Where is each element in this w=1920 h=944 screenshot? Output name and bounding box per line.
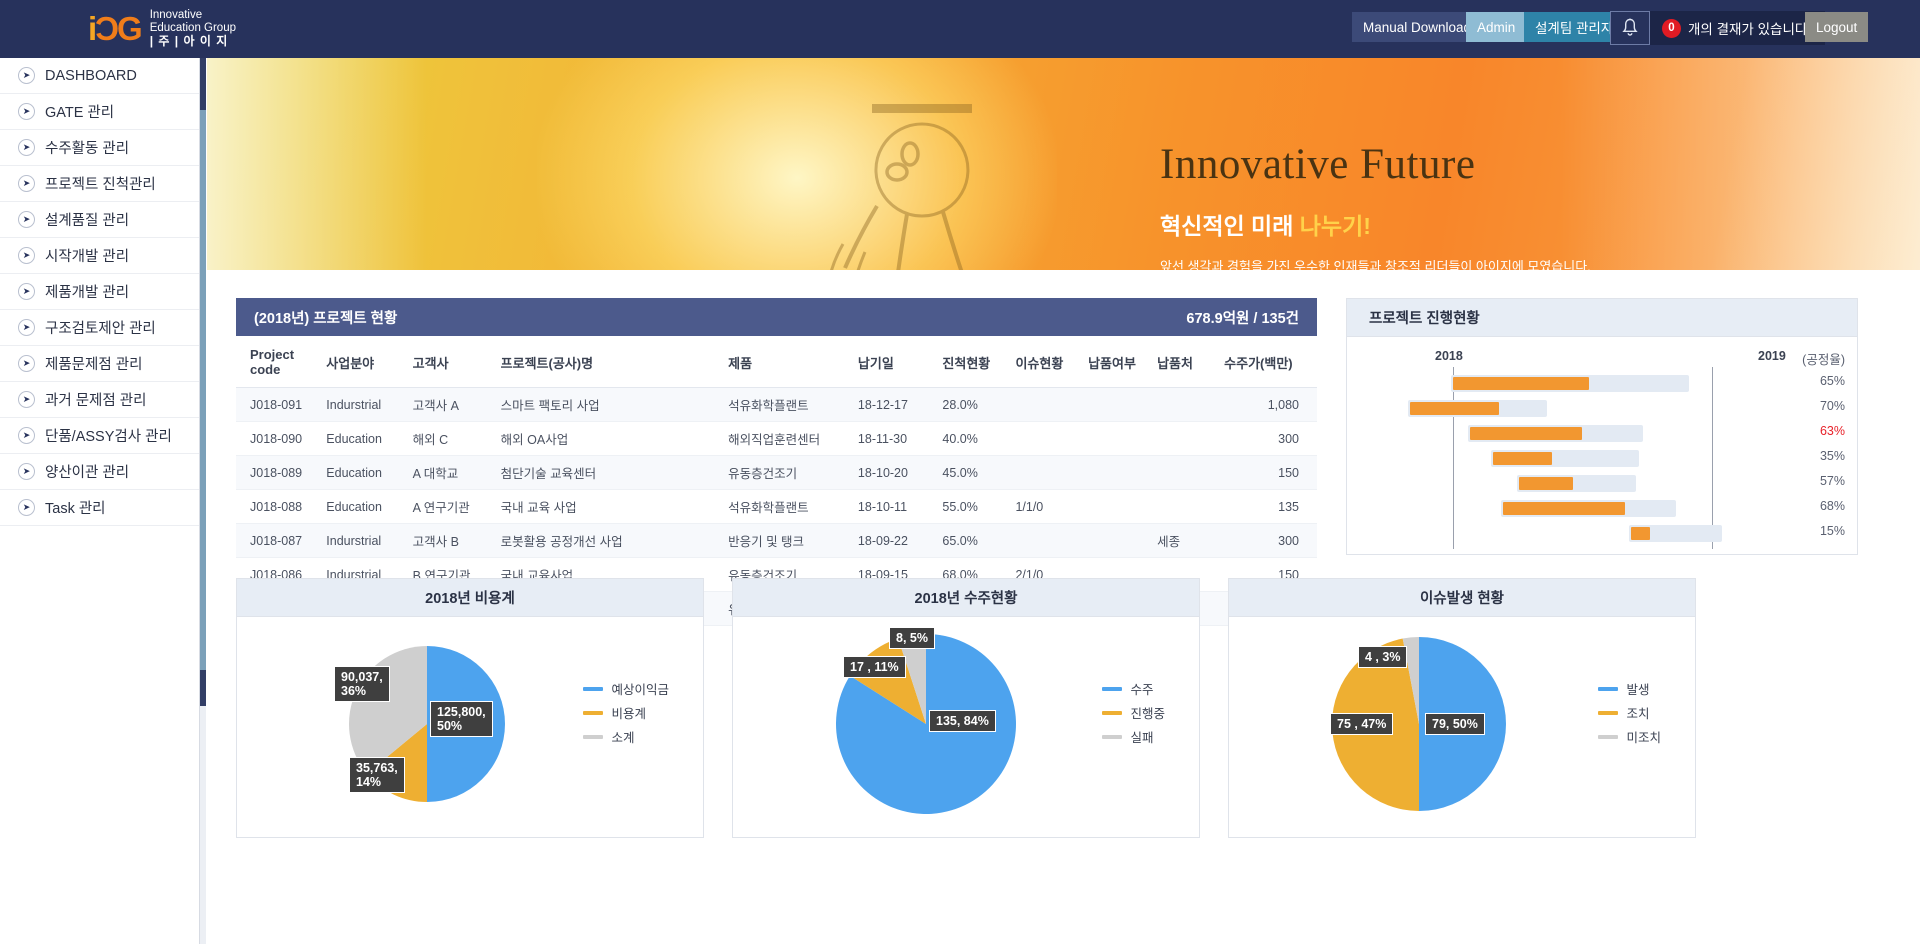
logout-button[interactable]: Logout	[1805, 12, 1868, 42]
admin-button[interactable]: Admin	[1466, 12, 1526, 42]
legend-label: 예상이익금	[611, 679, 669, 698]
cell-progress: 65.0%	[942, 524, 1015, 558]
cell-product: 석유화학플랜트	[728, 388, 858, 422]
gantt-chart: 2018 2019 (공정율) 65%70%63%35%57%68%15%	[1347, 337, 1857, 555]
cell-amount: 300	[1224, 524, 1317, 558]
project-progress-panel: 프로젝트 진행현황 2018 2019 (공정율) 65%70%63%35%57…	[1346, 298, 1858, 555]
legend-item[interactable]: 조치	[1598, 703, 1661, 722]
column-header-7: 이슈현황	[1015, 336, 1088, 388]
table-row[interactable]: J018-090Education해외 C해외 OA사업해외직업훈련센터18-1…	[236, 422, 1317, 456]
gantt-axis-label-left: 2018	[1435, 349, 1463, 363]
cell-due: 18-09-22	[858, 524, 943, 558]
cell-amount: 1,080	[1224, 388, 1317, 422]
cell-progress: 28.0%	[942, 388, 1015, 422]
gantt-fill	[1519, 477, 1572, 490]
approval-notice-text: 개의 결재가 있습니다.	[1688, 18, 1811, 38]
banner-subheading-plain: 혁신적인 미래	[1160, 213, 1300, 239]
banner-subheading: 혁신적인 미래 나누기!	[1160, 207, 1591, 241]
bell-icon	[1621, 18, 1639, 38]
legend-label: 조치	[1626, 703, 1649, 722]
issue-pie-title: 이슈발생 현황	[1229, 579, 1695, 617]
chevron-right-icon: ➤	[18, 319, 35, 336]
column-header-1: 사업분야	[326, 336, 412, 388]
cell-delivered	[1088, 490, 1157, 524]
logo-text: Innovative Education Group | 주 | 아 이 지	[150, 9, 236, 48]
cell-client: A 대학교	[413, 456, 501, 490]
legend-swatch	[1102, 711, 1122, 715]
chevron-right-icon: ➤	[18, 355, 35, 372]
sidebar-item-1[interactable]: ➤GATE 관리	[0, 94, 199, 130]
table-row[interactable]: J018-087Indurstrial고객사 B로봇활용 공정개선 사업반응기 …	[236, 524, 1317, 558]
cell-delivered	[1088, 524, 1157, 558]
cell-product: 반응기 및 탱크	[728, 524, 858, 558]
approval-count-badge: 0	[1662, 19, 1681, 38]
order-pie-panel: 2018년 수주현황 수주진행중실패135, 84%17 , 11%8, 5%	[732, 578, 1200, 838]
legend-item[interactable]: 소계	[583, 727, 669, 746]
gantt-percent-label: 70%	[1820, 399, 1845, 413]
project-progress-header: 프로젝트 진행현황	[1347, 299, 1857, 337]
sidebar-item-10[interactable]: ➤단품/ASSY검사 관리	[0, 418, 199, 454]
table-row[interactable]: J018-088EducationA 연구기관국내 교육 사업석유화학플랜트18…	[236, 490, 1317, 524]
logo-line-3: | 주 | 아 이 지	[150, 35, 236, 48]
cell-amount: 150	[1224, 456, 1317, 490]
cell-client: 고객사 A	[413, 388, 501, 422]
manual-download-button[interactable]: Manual Download	[1352, 12, 1482, 42]
legend-item[interactable]: 수주	[1102, 679, 1165, 698]
cell-due: 18-10-11	[858, 490, 943, 524]
sidebar-item-2[interactable]: ➤수주활동 관리	[0, 130, 199, 166]
project-table-header-row: Project code사업분야고객사프로젝트(공사)명제품납기일진척현황이슈현…	[236, 336, 1317, 388]
gantt-axis-unit-label: (공정율)	[1802, 349, 1845, 368]
gantt-fill	[1503, 502, 1625, 515]
project-status-title: (2018년) 프로젝트 현황	[254, 307, 397, 328]
cell-delivered	[1088, 388, 1157, 422]
cell-code: J018-088	[236, 490, 326, 524]
cell-delivered	[1088, 456, 1157, 490]
sidebar-scrollbar-thumb[interactable]	[200, 110, 206, 670]
cell-name: 로봇활용 공정개선 사업	[501, 524, 728, 558]
gantt-row: 57%	[1347, 471, 1859, 496]
cell-field: Education	[326, 490, 412, 524]
gantt-row: 15%	[1347, 521, 1859, 546]
gantt-row: 68%	[1347, 496, 1859, 521]
gantt-percent-label: 15%	[1820, 524, 1845, 538]
chevron-right-icon: ➤	[18, 247, 35, 264]
pie-data-label: 35,763, 14%	[349, 757, 405, 793]
column-header-4: 제품	[728, 336, 858, 388]
sidebar-item-3[interactable]: ➤프로젝트 진척관리	[0, 166, 199, 202]
cell-product: 해외직업훈련센터	[728, 422, 858, 456]
legend-label: 발생	[1626, 679, 1649, 698]
cell-dest	[1157, 388, 1224, 422]
legend-item[interactable]: 미조치	[1598, 727, 1661, 746]
banner-subheading-accent: 나누기!	[1300, 213, 1371, 239]
gantt-row: 70%	[1347, 396, 1859, 421]
project-status-panel: (2018년) 프로젝트 현황 678.9억원 / 135건 Project c…	[236, 298, 1317, 555]
legend-label: 비용계	[611, 703, 646, 722]
pie-data-label: 125,800, 50%	[430, 701, 493, 737]
legend-swatch	[583, 687, 603, 691]
chevron-right-icon: ➤	[18, 427, 35, 444]
cell-dest	[1157, 422, 1224, 456]
sidebar-scrollbar-bottom-cap[interactable]	[200, 670, 206, 706]
gantt-percent-label: 65%	[1820, 374, 1845, 388]
pie-data-label: 75 , 47%	[1330, 713, 1393, 735]
cell-dest: 세종	[1157, 524, 1224, 558]
gantt-fill	[1410, 402, 1499, 415]
approval-notice[interactable]: 0 개의 결재가 있습니다.	[1650, 11, 1825, 45]
sidebar-item-label: Task 관리	[45, 497, 106, 518]
banner-heading: Innovative Future	[1160, 143, 1591, 186]
cell-issue	[1015, 388, 1088, 422]
cell-dest	[1157, 490, 1224, 524]
gantt-percent-label: 57%	[1820, 474, 1845, 488]
sidebar-item-7[interactable]: ➤구조검토제안 관리	[0, 310, 199, 346]
cell-due: 18-10-20	[858, 456, 943, 490]
order-pie-title: 2018년 수주현황	[733, 579, 1199, 617]
cell-product: 석유화학플랜트	[728, 490, 858, 524]
cell-progress: 55.0%	[942, 490, 1015, 524]
project-status-summary: 678.9억원 / 135건	[1186, 307, 1299, 328]
gantt-percent-label: 35%	[1820, 449, 1845, 463]
cell-issue	[1015, 524, 1088, 558]
legend-swatch	[1102, 687, 1122, 691]
cell-progress: 40.0%	[942, 422, 1015, 456]
table-row[interactable]: J018-089EducationA 대학교첨단기술 교육센터유동층건조기18-…	[236, 456, 1317, 490]
banner-paragraph-1: 앞선 생각과 경험을 가진 우수한 인재들과 창조적 리더들이 아이지에 모였습…	[1160, 257, 1591, 270]
cell-name: 해외 OA사업	[501, 422, 728, 456]
pie-legend: 수주진행중실패	[1102, 679, 1165, 751]
sidebar-item-12[interactable]: ➤Task 관리	[0, 490, 199, 526]
legend-swatch	[1598, 687, 1618, 691]
sidebar-item-label: 제품문제점 관리	[45, 353, 142, 374]
legend-label: 진행중	[1130, 703, 1165, 722]
app-header: iƆG Innovative Education Group | 주 | 아 이…	[0, 0, 1920, 58]
legend-item[interactable]: 발생	[1598, 679, 1661, 698]
cell-issue: 1/1/0	[1015, 490, 1088, 524]
cell-due: 18-11-30	[858, 422, 943, 456]
sidebar-item-label: 제품개발 관리	[45, 281, 129, 302]
legend-swatch	[583, 711, 603, 715]
cell-progress: 45.0%	[942, 456, 1015, 490]
cell-field: Indurstrial	[326, 524, 412, 558]
legend-label: 수주	[1130, 679, 1153, 698]
gantt-percent-label: 68%	[1820, 499, 1845, 513]
column-header-5: 납기일	[858, 336, 943, 388]
cell-field: Indurstrial	[326, 388, 412, 422]
cell-name: 국내 교육 사업	[501, 490, 728, 524]
column-header-10: 수주가(백만)	[1224, 336, 1317, 388]
chevron-right-icon: ➤	[18, 283, 35, 300]
gantt-percent-label: 63%	[1820, 424, 1845, 438]
legend-swatch	[583, 735, 603, 739]
pie-data-label: 79, 50%	[1425, 713, 1485, 735]
chevron-right-icon: ➤	[18, 463, 35, 480]
project-progress-title: 프로젝트 진행현황	[1369, 307, 1480, 328]
cell-amount: 135	[1224, 490, 1317, 524]
sidebar-item-9[interactable]: ➤과거 문제점 관리	[0, 382, 199, 418]
column-header-9: 납품처	[1157, 336, 1224, 388]
cell-client: A 연구기관	[413, 490, 501, 524]
cell-due: 18-12-17	[858, 388, 943, 422]
legend-item[interactable]: 진행중	[1102, 703, 1165, 722]
sidebar-item-0[interactable]: ➤DASHBOARD	[0, 58, 199, 94]
cost-pie-body: 예상이익금비용계소계125,800, 50%35,763, 14%90,037,…	[237, 617, 703, 838]
sidebar-item-label: 양산이관 관리	[45, 461, 129, 482]
legend-swatch	[1598, 711, 1618, 715]
cell-name: 첨단기술 교육센터	[501, 456, 728, 490]
column-header-6: 진척현황	[942, 336, 1015, 388]
chevron-right-icon: ➤	[18, 175, 35, 192]
cell-code: J018-090	[236, 422, 326, 456]
gantt-row: 35%	[1347, 446, 1859, 471]
gantt-axis-label-right: 2019	[1758, 349, 1786, 363]
project-status-header: (2018년) 프로젝트 현황 678.9억원 / 135건	[236, 298, 1317, 336]
cell-product: 유동층건조기	[728, 456, 858, 490]
column-header-2: 고객사	[413, 336, 501, 388]
sidebar-item-4[interactable]: ➤설계품질 관리	[0, 202, 199, 238]
gantt-fill	[1631, 527, 1649, 540]
sidebar-item-8[interactable]: ➤제품문제점 관리	[0, 346, 199, 382]
cell-client: 해외 C	[413, 422, 501, 456]
lightbulb-illustration	[747, 66, 1167, 270]
sidebar-item-label: 구조검토제안 관리	[45, 317, 156, 338]
cell-field: Education	[326, 456, 412, 490]
hero-banner: Innovative Future 혁신적인 미래 나누기! 앞선 생각과 경험…	[207, 58, 1920, 270]
gantt-fill	[1470, 427, 1582, 440]
table-row[interactable]: J018-091Indurstrial고객사 A스마트 팩토리 사업석유화학플랜…	[236, 388, 1317, 422]
cell-code: J018-089	[236, 456, 326, 490]
cell-issue	[1015, 422, 1088, 456]
legend-item[interactable]: 비용계	[583, 703, 669, 722]
cell-delivered	[1088, 422, 1157, 456]
cost-pie-panel: 2018년 비용계 예상이익금비용계소계125,800, 50%35,763, …	[236, 578, 704, 838]
sidebar-item-label: 단품/ASSY검사 관리	[45, 425, 172, 446]
cell-amount: 300	[1224, 422, 1317, 456]
issue-pie-body: 발생조치미조치79, 50%75 , 47%4 , 3%	[1229, 617, 1695, 838]
cell-client: 고객사 B	[413, 524, 501, 558]
cell-field: Education	[326, 422, 412, 456]
sidebar-item-label: GATE 관리	[45, 101, 114, 122]
pie-data-label: 8, 5%	[889, 627, 935, 649]
gantt-row: 63%	[1347, 421, 1859, 446]
cell-dest	[1157, 456, 1224, 490]
sidebar-item-label: 과거 문제점 관리	[45, 389, 146, 410]
column-header-8: 납품여부	[1088, 336, 1157, 388]
pie-data-label: 90,037, 36%	[334, 666, 390, 702]
chevron-right-icon: ➤	[18, 211, 35, 228]
issue-pie-panel: 이슈발생 현황 발생조치미조치79, 50%75 , 47%4 , 3%	[1228, 578, 1696, 838]
chevron-right-icon: ➤	[18, 103, 35, 120]
pie-data-label: 135, 84%	[929, 710, 996, 732]
sidebar-item-label: 프로젝트 진척관리	[45, 173, 156, 194]
banner-left-fade	[207, 58, 427, 270]
sidebar-item-label: DASHBOARD	[45, 68, 137, 84]
gantt-row: 65%	[1347, 371, 1859, 396]
sidebar-item-label: 설계품질 관리	[45, 209, 129, 230]
pie-data-label: 4 , 3%	[1358, 646, 1407, 668]
sidebar-item-label: 수주활동 관리	[45, 137, 129, 158]
legend-label: 소계	[611, 727, 634, 746]
column-header-3: 프로젝트(공사)명	[501, 336, 728, 388]
pie-data-label: 17 , 11%	[843, 656, 906, 678]
cell-code: J018-087	[236, 524, 326, 558]
chevron-right-icon: ➤	[18, 139, 35, 156]
legend-swatch	[1102, 735, 1122, 739]
sidebar-item-6[interactable]: ➤제품개발 관리	[0, 274, 199, 310]
sidebar-nav: ➤DASHBOARD➤GATE 관리➤수주활동 관리➤프로젝트 진척관리➤설계품…	[0, 58, 200, 944]
cost-pie-title: 2018년 비용계	[237, 579, 703, 617]
sidebar-scrollbar-top-cap[interactable]	[200, 58, 206, 110]
pie-legend: 예상이익금비용계소계	[583, 679, 669, 751]
cell-code: J018-091	[236, 388, 326, 422]
cell-name: 스마트 팩토리 사업	[501, 388, 728, 422]
sidebar-item-label: 시작개발 관리	[45, 245, 129, 266]
legend-label: 미조치	[1626, 727, 1661, 746]
order-pie-body: 수주진행중실패135, 84%17 , 11%8, 5%	[733, 617, 1199, 838]
sidebar-item-11[interactable]: ➤양산이관 관리	[0, 454, 199, 490]
logo-mark: iƆG	[88, 12, 141, 45]
gantt-fill	[1453, 377, 1588, 390]
legend-item[interactable]: 예상이익금	[583, 679, 669, 698]
notification-bell-button[interactable]	[1610, 11, 1650, 45]
legend-swatch	[1598, 735, 1618, 739]
column-header-0: Project code	[236, 336, 326, 388]
chevron-right-icon: ➤	[18, 391, 35, 408]
gantt-fill	[1493, 452, 1552, 465]
logo-line-1: Innovative	[150, 9, 236, 22]
legend-label: 실패	[1130, 727, 1153, 746]
sidebar-item-5[interactable]: ➤시작개발 관리	[0, 238, 199, 274]
chevron-right-icon: ➤	[18, 499, 35, 516]
cell-issue	[1015, 456, 1088, 490]
legend-item[interactable]: 실패	[1102, 727, 1165, 746]
banner-text-block: Innovative Future 혁신적인 미래 나누기! 앞선 생각과 경험…	[1160, 143, 1591, 270]
pie-legend: 발생조치미조치	[1598, 679, 1661, 751]
banner-right-fade	[1560, 58, 1920, 270]
chevron-right-icon: ➤	[18, 67, 35, 84]
logo[interactable]: iƆG Innovative Education Group | 주 | 아 이…	[88, 9, 236, 48]
